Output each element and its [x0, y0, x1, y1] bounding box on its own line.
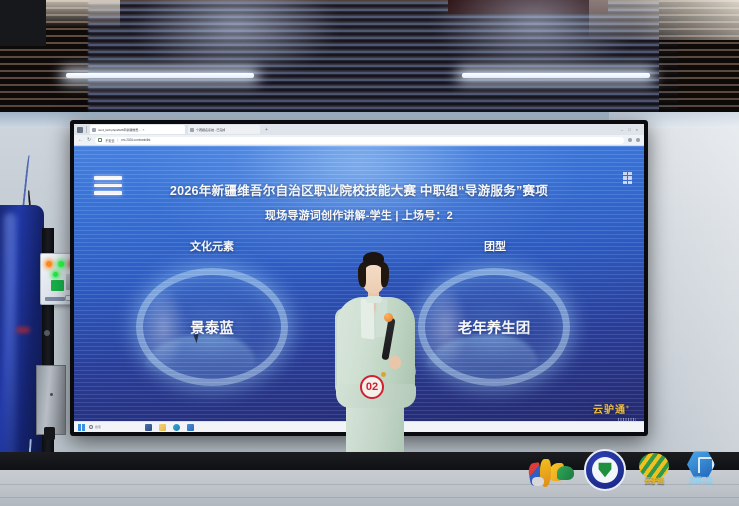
floor-seam	[0, 497, 739, 498]
browser-tab-bar[interactable]: rend_list3.php/2026年新疆维吾... × 个赛报名系统 - 已…	[74, 124, 644, 135]
search-label: 搜索	[95, 425, 101, 429]
ceiling-light-strip-2	[462, 73, 650, 78]
back-icon[interactable]: ←	[78, 137, 83, 143]
profile-icon[interactable]	[628, 138, 632, 142]
institute-emblem	[584, 449, 626, 491]
room-scene: rend_list3.php/2026年新疆维吾... × 个赛报名系统 - 已…	[0, 0, 739, 506]
led-green-icon	[58, 261, 64, 267]
presenter-hand	[389, 356, 401, 369]
minimize-button[interactable]: –	[621, 127, 623, 132]
contestant-number-badge: 02	[360, 375, 384, 399]
led-status-icon	[53, 272, 58, 277]
bubble-group: 老年养生团	[418, 268, 570, 386]
microphone-head	[384, 313, 393, 322]
divider	[86, 126, 87, 133]
slide-title: 2026年新疆维吾尔自治区职业院校技能大赛 中职组“导游服务”赛项	[74, 180, 644, 199]
browser-tab-active[interactable]: rend_list3.php/2026年新疆维吾... ×	[90, 125, 185, 134]
panel-brand-strip	[45, 297, 65, 301]
security-label: 不安全	[105, 138, 114, 143]
emergency-green-button[interactable]	[51, 280, 64, 291]
url-text: rec.2026.com/rank/list	[121, 138, 150, 142]
app-icon[interactable]	[187, 424, 194, 431]
search-icon	[89, 425, 93, 429]
address-input[interactable]: 不安全 | rec.2026.com/rank/list	[95, 137, 624, 144]
window-controls[interactable]: – □ ×	[621, 127, 641, 132]
bubble-label-group: 老年养生团	[418, 268, 570, 386]
taskbar-apps[interactable]	[145, 424, 194, 431]
ceiling-corner-block	[0, 0, 46, 46]
cabinet-handle[interactable]	[44, 330, 50, 336]
slide-watermark: 云驴通®	[593, 401, 630, 416]
yunlvtong-logo: 云驴通	[635, 453, 673, 491]
calligraphy-logo	[527, 455, 575, 491]
partner-logo: 新疆云游 XINJIANG TRAVEL	[682, 451, 720, 491]
lock-icon	[98, 138, 102, 142]
file-explorer-icon[interactable]	[145, 424, 152, 431]
tab-close-icon[interactable]: ×	[143, 128, 145, 132]
presenter-collar	[366, 296, 382, 303]
presenter-lapel-left	[361, 298, 375, 339]
ceiling-wash-right	[589, 0, 739, 40]
reload-icon[interactable]: ↻	[87, 137, 91, 143]
sponsor-logo-wall: 云驴通 新疆云游 XINJIANG TRAVEL	[527, 443, 732, 491]
more-menu-icon[interactable]	[636, 138, 640, 142]
jacket-button	[381, 372, 386, 377]
column-heading-group: 团型	[484, 238, 506, 254]
browser-actions[interactable]	[628, 138, 640, 142]
watermark-text: 云驴通	[593, 405, 626, 416]
led-orange-icon	[46, 261, 52, 267]
wall-socket-box	[44, 427, 55, 440]
presenter-hair-left	[358, 263, 366, 287]
folder-icon[interactable]	[159, 424, 166, 431]
tab-favicon-icon	[92, 128, 96, 132]
slide-subtitle: 现场导游词创作讲解-学生 | 上场号：2	[74, 207, 644, 223]
yunlvtong-label: 云驴通	[635, 476, 673, 486]
partner-hex-icon	[687, 451, 715, 478]
taskbar-search[interactable]: 搜索	[89, 425, 101, 429]
browser-url-bar[interactable]: ← ↻ 不安全 | rec.2026.com/rank/list	[74, 135, 644, 146]
ceiling	[0, 0, 739, 118]
tab-label: 个赛报名系统 - 已完成	[196, 127, 225, 132]
new-tab-button[interactable]: +	[263, 127, 270, 133]
wall-metal-box	[36, 365, 66, 435]
bubble-label-culture: 景泰蓝	[136, 268, 288, 386]
tab-label: rend_list3.php/2026年新疆维吾...	[98, 127, 141, 132]
cabinet-sheen	[4, 213, 16, 473]
tab-favicon-icon	[190, 128, 194, 132]
emblem-inner	[592, 457, 618, 483]
ceiling-light-strip-1	[66, 73, 254, 78]
windows-start-icon[interactable]	[78, 424, 85, 431]
metal-box-screw	[50, 393, 53, 396]
browser-tab-inactive[interactable]: 个赛报名系统 - 已完成	[188, 125, 260, 134]
presenter-hair-right	[381, 263, 389, 287]
partner-sublabel: XINJIANG TRAVEL	[682, 482, 720, 486]
bubble-culture: 景泰蓝	[136, 268, 288, 386]
column-heading-culture: 文化元素	[190, 238, 234, 254]
edge-browser-icon[interactable]	[173, 424, 180, 431]
browser-app-icon	[77, 127, 83, 133]
emblem-mark-icon	[597, 462, 613, 478]
cabinet-red-reflection	[16, 327, 30, 333]
close-button[interactable]: ×	[636, 127, 638, 132]
maximize-button[interactable]: □	[628, 127, 630, 132]
watermark-mark: ®	[626, 405, 630, 410]
